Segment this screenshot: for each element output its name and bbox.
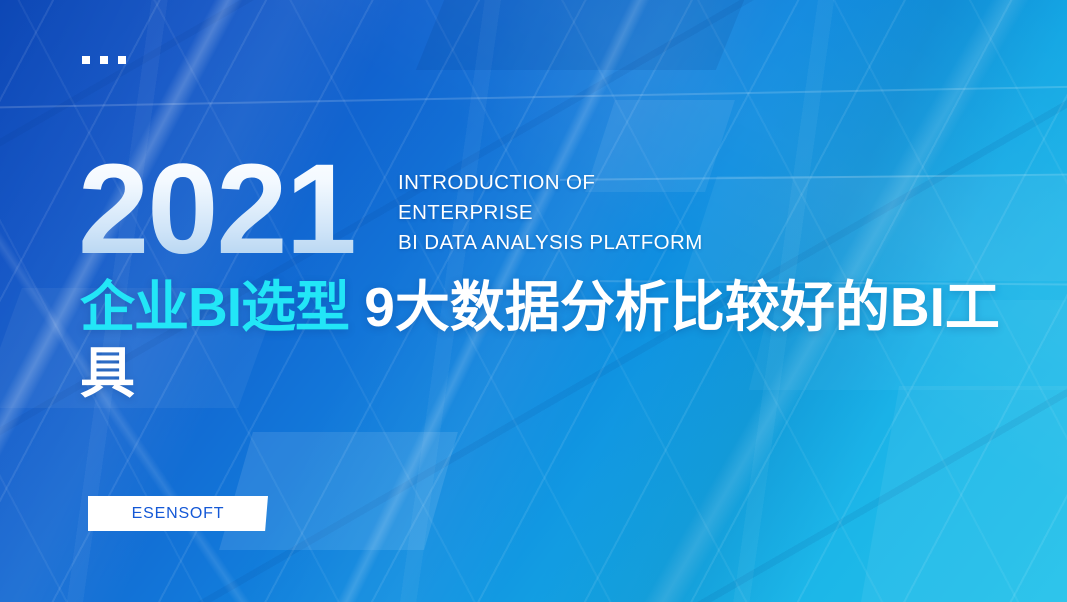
decor-dots [82,56,126,64]
glass-slab [861,386,1067,602]
page-title: 企业BI选型 9大数据分析比较好的BI工具 [80,274,1010,406]
page-title-accent: 企业BI选型 [80,276,349,338]
brand-button[interactable]: ESENSOFT [88,496,268,531]
square-dot-icon [100,56,108,64]
title-slide: 2021 INTRODUCTION OF ENTERPRISE BI DATA … [0,0,1067,602]
glass-edge-highlight [0,85,1067,109]
english-subtitle: INTRODUCTION OF ENTERPRISE BI DATA ANALY… [398,168,703,258]
glass-slab [219,432,458,550]
glass-slab [416,0,744,70]
square-dot-icon [118,56,126,64]
square-dot-icon [82,56,90,64]
year-label: 2021 [78,146,355,274]
brand-button-label: ESENSOFT [132,505,225,523]
glass-slab [683,176,1067,281]
